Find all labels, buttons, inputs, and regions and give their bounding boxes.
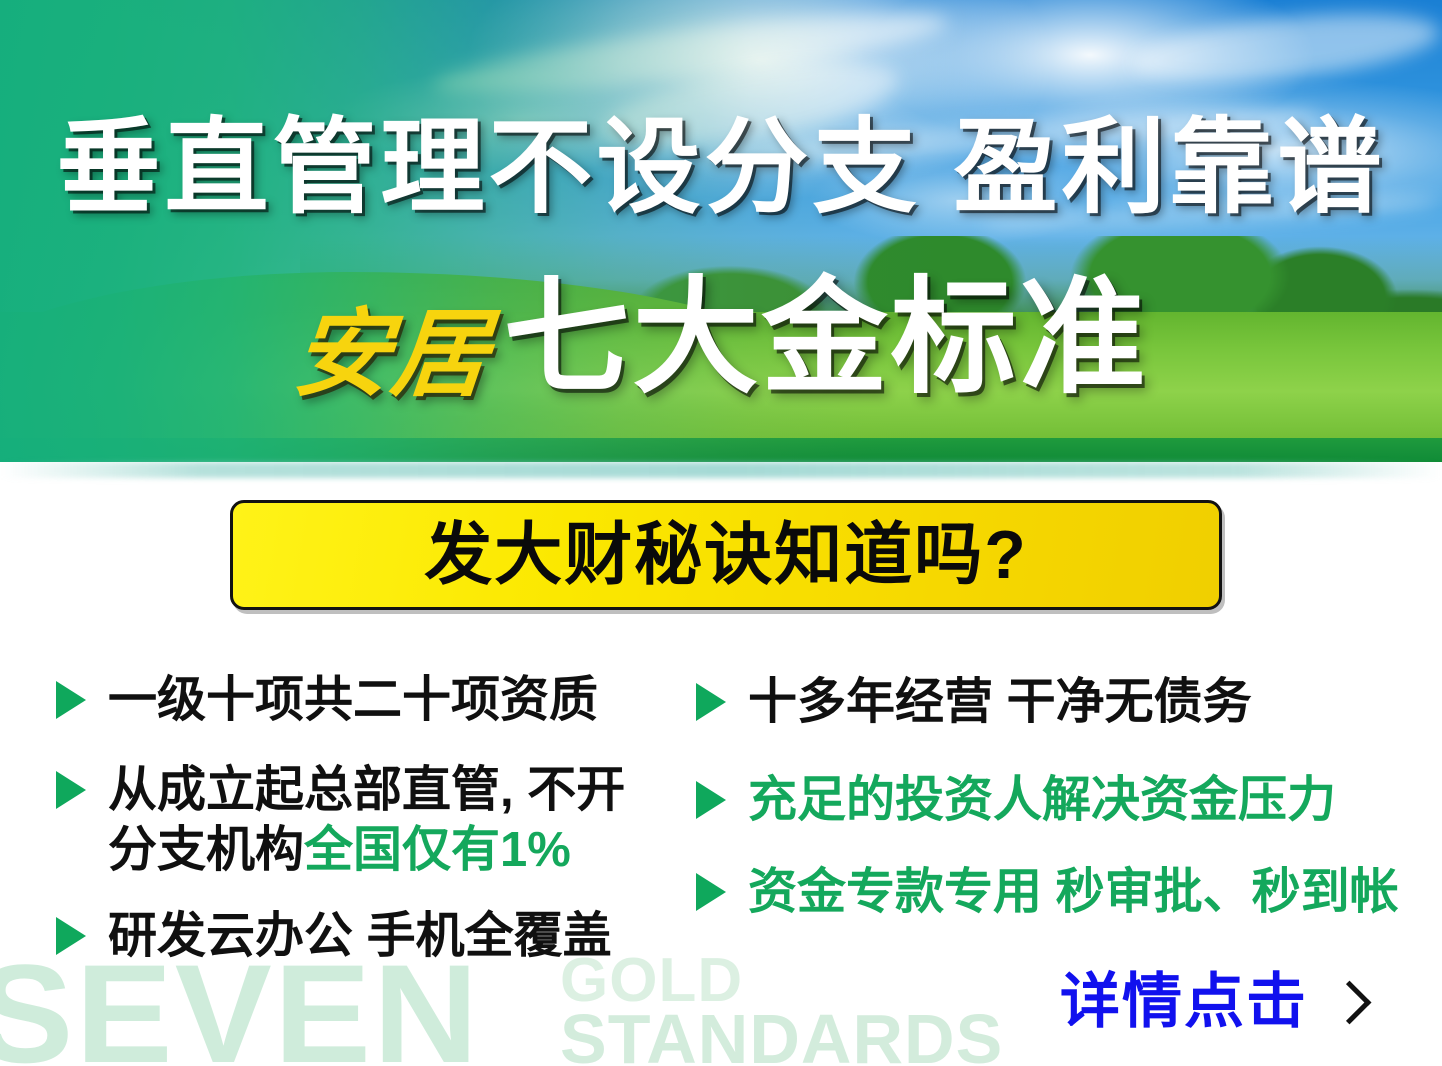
hero-headline-secondary: 安居七大金标准 [0, 278, 1442, 398]
hero-brand-word: 安居 [288, 294, 494, 414]
headline-question-banner[interactable]: 发大财秘诀知道吗? [230, 500, 1222, 610]
feature-column-left: 一级十项共二十项资质 从成立起总部直管, 不开 分支机构全国仅有1% 研发云办公… [56, 660, 696, 992]
list-item: 研发云办公 手机全覆盖 [56, 906, 696, 966]
detail-link-label: 详情点击 [1060, 972, 1308, 1032]
list-item: 一级十项共二十项资质 [56, 670, 696, 730]
list-item: 充足的投资人解决资金压力 [696, 770, 1416, 830]
feature-text: 一级十项共二十项资质 [108, 670, 598, 730]
triangle-right-icon [56, 771, 86, 809]
chevron-right-icon [1328, 980, 1372, 1024]
triangle-right-icon [56, 681, 86, 719]
hero-headline-standards: 七大金标准 [504, 278, 1149, 398]
feature-text: 研发云办公 手机全覆盖 [108, 906, 612, 966]
detail-link-button[interactable]: 详情点击 [1060, 972, 1365, 1032]
feature-list: 一级十项共二十项资质 从成立起总部直管, 不开 分支机构全国仅有1% 研发云办公… [0, 660, 1442, 1000]
triangle-right-icon [56, 917, 86, 955]
list-item: 十多年经营 干净无债务 [696, 672, 1416, 732]
feature-text: 从成立起总部直管, 不开 分支机构全国仅有1% [108, 760, 625, 880]
promotional-poster: 垂直管理不设分支 盈利靠谱 安居七大金标准 发大财秘诀知道吗? SEVEN GO… [0, 0, 1442, 1066]
feature-text: 充足的投资人解决资金压力 [748, 770, 1336, 830]
triangle-right-icon [696, 781, 726, 819]
feature-text: 资金专款专用 秒审批、秒到帐 [748, 862, 1399, 922]
list-item: 资金专款专用 秒审批、秒到帐 [696, 862, 1416, 922]
hero-headline-primary: 垂直管理不设分支 盈利靠谱 [0, 116, 1442, 220]
triangle-right-icon [696, 683, 726, 721]
hero-banner: 垂直管理不设分支 盈利靠谱 安居七大金标准 [0, 0, 1442, 462]
list-item: 从成立起总部直管, 不开 分支机构全国仅有1% [56, 760, 696, 880]
watermark-standards: STANDARDS [560, 1004, 1003, 1066]
headline-question-text: 发大财秘诀知道吗? [424, 521, 1028, 589]
feature-column-right: 十多年经营 干净无债务 充足的投资人解决资金压力 资金专款专用 秒审批、秒到帐 [696, 660, 1416, 948]
triangle-right-icon [696, 873, 726, 911]
hero-shadow-strip [0, 462, 1442, 478]
feature-text-highlight: 全国仅有1% [304, 823, 571, 877]
feature-text: 十多年经营 干净无债务 [748, 672, 1252, 732]
